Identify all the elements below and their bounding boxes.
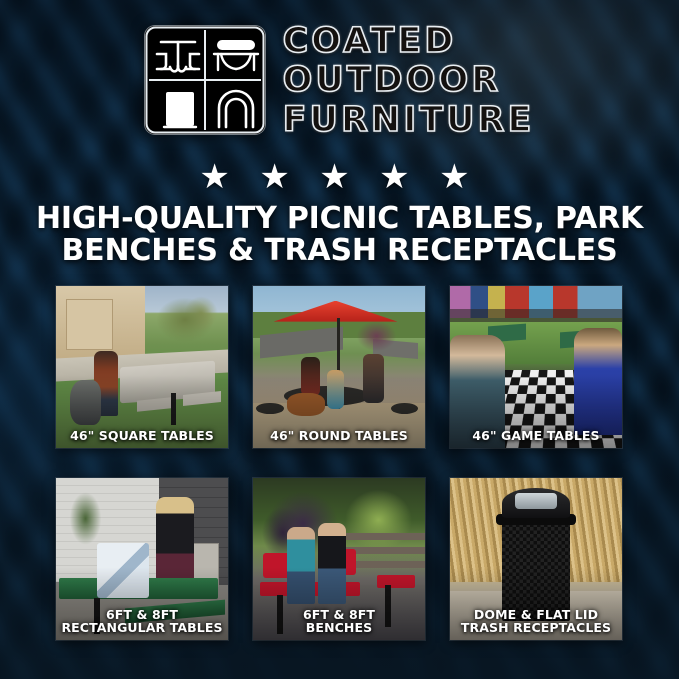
caption-line: 6FT & 8FT bbox=[257, 608, 421, 621]
tile-rectangular-tables[interactable]: 6FT & 8FT RECTANGULAR TABLES bbox=[56, 478, 228, 640]
tile-caption: 6FT & 8FT BENCHES bbox=[257, 608, 421, 635]
caption-line: 46" GAME TABLES bbox=[454, 429, 618, 442]
brand-line-1: COATED bbox=[283, 24, 535, 58]
photo-shade bbox=[253, 286, 425, 448]
logo-mark-quadrants bbox=[145, 26, 265, 134]
tile-caption: 6FT & 8FT RECTANGULAR TABLES bbox=[60, 608, 224, 635]
photo-shade bbox=[56, 286, 228, 448]
caption-line: DOME & FLAT LID bbox=[454, 608, 618, 621]
brand-logo: COATED OUTDOOR FURNITURE bbox=[0, 26, 679, 137]
tile-caption: DOME & FLAT LID TRASH RECEPTACLES bbox=[454, 608, 618, 635]
caption-line: 46" SQUARE TABLES bbox=[60, 429, 224, 442]
caption-line: 46" ROUND TABLES bbox=[257, 429, 421, 442]
tile-benches[interactable]: 6FT & 8FT BENCHES bbox=[253, 478, 425, 640]
brand-line-3: FURNITURE bbox=[283, 103, 535, 137]
caption-line: TRASH RECEPTACLES bbox=[454, 621, 618, 634]
tile-game-tables[interactable]: 46" GAME TABLES bbox=[450, 286, 622, 448]
tile-trash-receptacles[interactable]: DOME & FLAT LID TRASH RECEPTACLES bbox=[450, 478, 622, 640]
category-grid: 46" SQUARE TABLES 46" ROUND TABLES bbox=[56, 286, 623, 640]
five-star-rating: ★ ★ ★ ★ ★ bbox=[0, 160, 679, 194]
banner-content: COATED OUTDOOR FURNITURE ★ ★ ★ ★ ★ HIGH-… bbox=[0, 0, 679, 679]
brand-wordmark: COATED OUTDOOR FURNITURE bbox=[283, 24, 535, 137]
star-icons: ★ ★ ★ ★ ★ bbox=[199, 158, 479, 196]
headline-line-2: BENCHES & TRASH RECEPTACLES bbox=[34, 235, 645, 267]
caption-line: BENCHES bbox=[257, 621, 421, 634]
tile-caption: 46" ROUND TABLES bbox=[257, 429, 421, 442]
product-banner: COATED OUTDOOR FURNITURE ★ ★ ★ ★ ★ HIGH-… bbox=[0, 0, 679, 679]
tile-square-tables[interactable]: 46" SQUARE TABLES bbox=[56, 286, 228, 448]
tile-caption: 46" GAME TABLES bbox=[454, 429, 618, 442]
brand-line-2: OUTDOOR bbox=[283, 63, 535, 97]
tile-caption: 46" SQUARE TABLES bbox=[60, 429, 224, 442]
page-title: HIGH-QUALITY PICNIC TABLES, PARK BENCHES… bbox=[34, 203, 645, 268]
caption-line: RECTANGULAR TABLES bbox=[60, 621, 224, 634]
tile-round-tables[interactable]: 46" ROUND TABLES bbox=[253, 286, 425, 448]
headline-line-1: HIGH-QUALITY PICNIC TABLES, PARK bbox=[34, 203, 645, 235]
caption-line: 6FT & 8FT bbox=[60, 608, 224, 621]
photo-shade bbox=[450, 286, 622, 448]
